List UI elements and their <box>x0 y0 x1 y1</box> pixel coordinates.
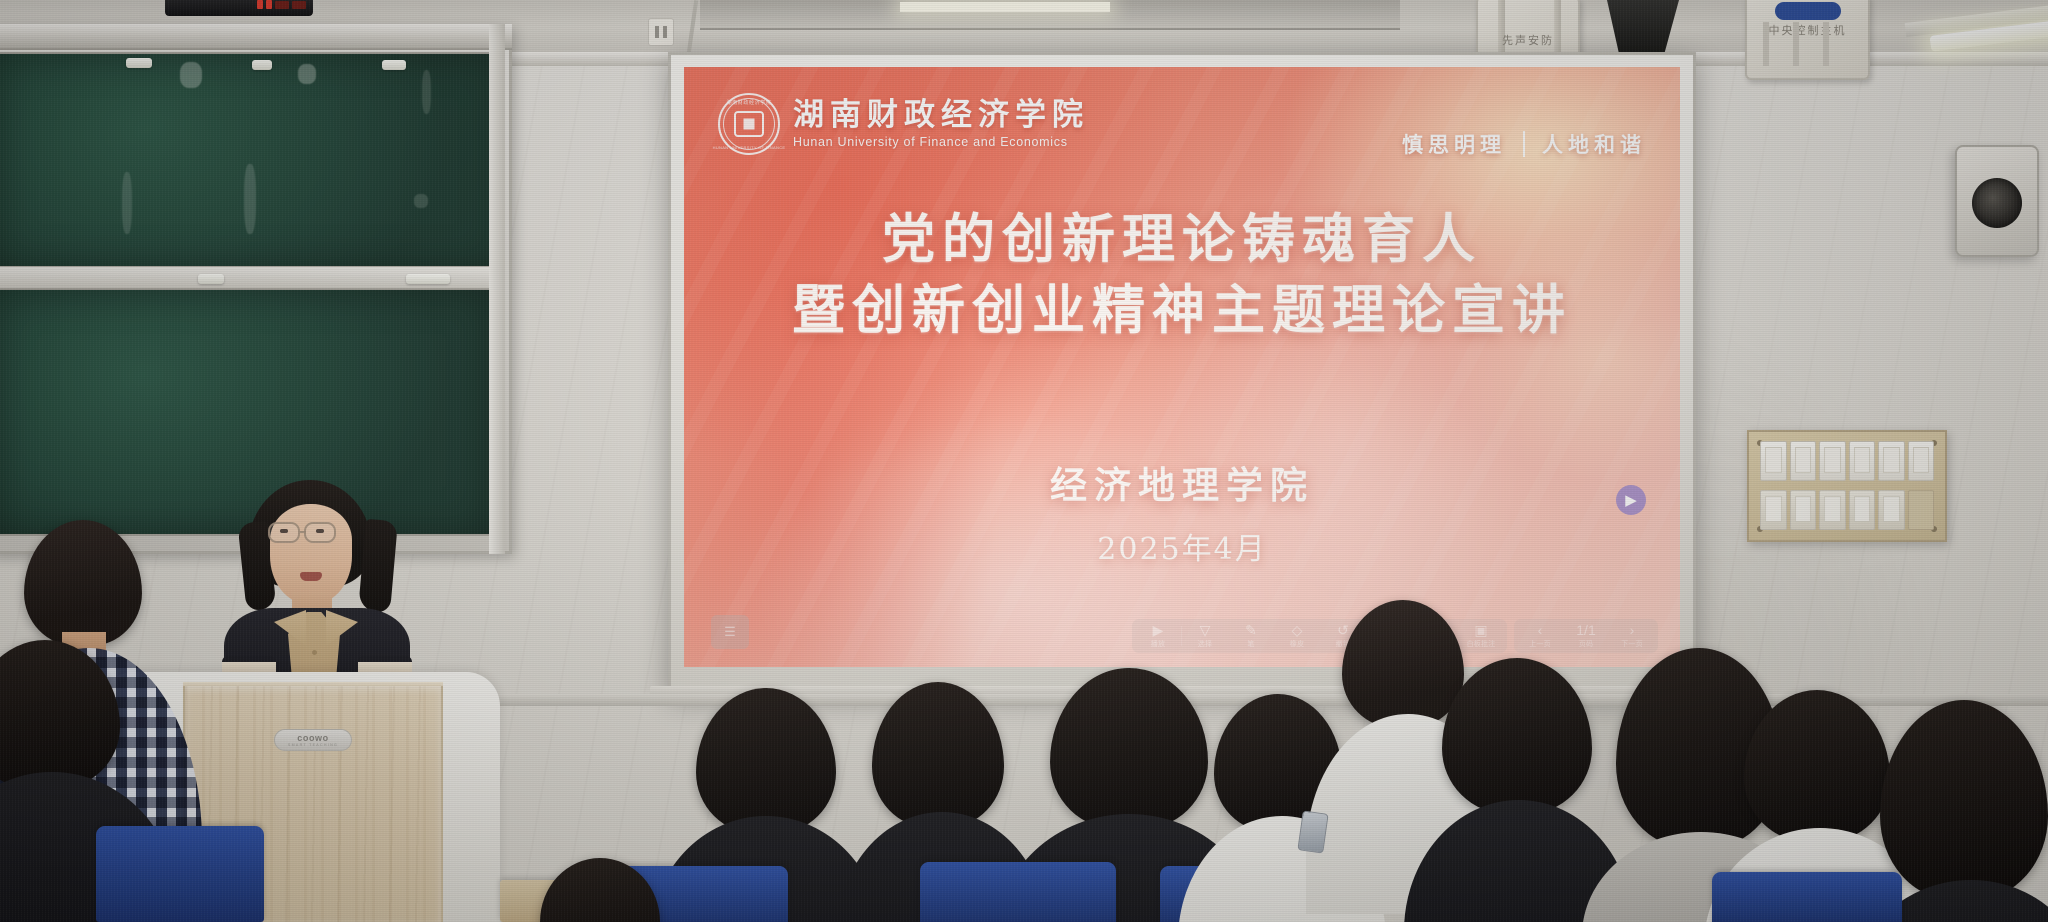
toolbar-expand-button[interactable]: ☰ <box>711 615 749 649</box>
light-switch-panel[interactable] <box>1747 430 1947 542</box>
light-switch[interactable] <box>1819 441 1846 481</box>
slogan-divider <box>1523 131 1525 157</box>
light-switch[interactable] <box>1849 490 1876 530</box>
toolbar-eraser-label: 橡皮 <box>1290 639 1304 649</box>
seal-arc-bottom-text: HUNAN UNIVERSITY OF FINANCE <box>713 145 786 150</box>
switch-row-top[interactable] <box>1760 441 1934 481</box>
slide-title-block: 党的创新理论铸魂育人 暨创新创业精神主题理论宣讲 <box>684 207 1680 342</box>
slide-date: 2025年4月 <box>684 524 1680 568</box>
podium-brand-subtext: SMART TEACHING <box>288 743 338 747</box>
glasses-bridge <box>300 531 306 533</box>
speaker-cone-icon <box>1972 178 2022 228</box>
toolbar-select-label: 选择 <box>1198 639 1212 649</box>
slogan-left: 慎思明理 <box>1402 129 1506 159</box>
wall-loudspeaker <box>1955 145 2039 257</box>
podium-brand-text: coowo <box>297 733 329 743</box>
toolbar-pen-button[interactable]: ✎ 笔 <box>1228 623 1274 649</box>
next-page-icon: › <box>1630 623 1635 637</box>
toolbar-prev-page-button[interactable]: ‹ 上一页 <box>1517 623 1563 649</box>
blackboard-top-rail <box>0 24 512 50</box>
light-switch[interactable] <box>1908 441 1935 481</box>
slide-subtitle-block: 经济地理学院 2025年4月 <box>684 455 1680 568</box>
equipment-vents <box>1763 22 1852 66</box>
toolbar-pen-label: 笔 <box>1247 639 1254 649</box>
switch-row-bottom[interactable] <box>1760 490 1934 530</box>
slide-organizer: 经济地理学院 <box>684 455 1680 509</box>
chair-back <box>96 826 264 922</box>
pen-icon: ✎ <box>1245 623 1257 637</box>
blackboard-panel-upper <box>0 52 504 270</box>
female-presenter <box>222 480 412 700</box>
select-icon: ▽ <box>1200 623 1211 637</box>
chair-back <box>1712 872 1902 922</box>
prev-page-icon: ‹ <box>1538 623 1543 637</box>
toolbar-page-indicator: 1/1 页码 <box>1563 623 1609 649</box>
play-badge-icon: ▶ <box>1616 485 1646 515</box>
page-indicator: 1/1 <box>1576 623 1595 637</box>
toolbar-whiteboard-label: 白板批注 <box>1467 639 1496 649</box>
blackboard-right-frame <box>489 24 505 554</box>
toolbar-next-page-button[interactable]: › 下一页 <box>1609 623 1655 649</box>
slogan-right: 人地和谐 <box>1542 129 1646 159</box>
undo-icon: ↺ <box>1337 623 1349 637</box>
toolbar-play-label: 播放 <box>1151 639 1165 649</box>
toolbar-select-button[interactable]: ▽ 选择 <box>1182 623 1228 649</box>
chair-back <box>920 862 1116 922</box>
university-seal-icon: 湖南财政经济学院 HUNAN UNIVERSITY OF FINANCE <box>718 93 780 155</box>
smartphone[interactable] <box>1297 810 1328 853</box>
shirt-button <box>312 650 317 655</box>
ceiling-light-strip <box>900 2 1110 12</box>
ceiling-equipment-box-right: 中央控制主机 <box>1745 0 1870 80</box>
wall-digital-display <box>165 0 313 16</box>
presentation-slide[interactable]: 湖南财政经济学院 HUNAN UNIVERSITY OF FINANCE 湖南财… <box>684 67 1680 667</box>
toolbar-play-button[interactable]: ▶ 播放 <box>1135 623 1181 649</box>
switch-blank-plate <box>1908 490 1935 530</box>
light-switch[interactable] <box>1760 441 1787 481</box>
presenter-face <box>270 504 352 604</box>
toolbar-next-page-label: 下一页 <box>1621 639 1643 649</box>
light-switch[interactable] <box>1878 441 1905 481</box>
light-switch[interactable] <box>1790 441 1817 481</box>
chalk-piece <box>126 58 152 68</box>
projection-screen[interactable]: 湖南财政经济学院 HUNAN UNIVERSITY OF FINANCE 湖南财… <box>668 52 1696 692</box>
blackboard-chalk-tray-mid <box>0 266 504 290</box>
equipment-badge <box>1775 2 1841 20</box>
equipment-box-left-label: 先声安防 <box>1478 32 1578 48</box>
university-brand-row: 湖南财政经济学院 HUNAN UNIVERSITY OF FINANCE 湖南财… <box>718 93 1089 155</box>
slide-title-line-2: 暨创新创业精神主题理论宣讲 <box>684 278 1680 343</box>
podium-brand-badge: coowo SMART TEACHING <box>274 729 352 751</box>
toolbar-group-navigation[interactable]: ‹ 上一页 1/1 页码 › 下一页 <box>1514 619 1658 653</box>
light-switch[interactable] <box>1849 441 1876 481</box>
glasses-lens-right-icon <box>304 522 336 543</box>
chalk-piece <box>382 60 406 70</box>
light-switch[interactable] <box>1790 490 1817 530</box>
toolbar-page-label: 页码 <box>1579 639 1593 649</box>
toolbar-whiteboard-button[interactable]: ▣ 白板批注 <box>1458 623 1504 649</box>
seal-arc-top-text: 湖南财政经济学院 <box>727 99 772 106</box>
classroom-photo-scene: 先声安防 中央控制主机 <box>0 0 2048 922</box>
light-switch[interactable] <box>1760 490 1787 530</box>
light-switch[interactable] <box>1878 490 1905 530</box>
whiteboard-icon: ▣ <box>1474 623 1487 637</box>
chalk-piece <box>252 60 272 70</box>
presenter-mouth <box>300 572 322 581</box>
glasses-lens-left-icon <box>268 522 300 543</box>
toolbar-prev-page-label: 上一页 <box>1529 639 1551 649</box>
wall-outlet <box>648 18 674 46</box>
university-slogan: 慎思明理 人地和谐 <box>1402 129 1646 159</box>
university-name-cn: 湖南财政经济学院 <box>793 99 1089 132</box>
university-name-en: Hunan University of Finance and Economic… <box>793 136 1089 149</box>
eraser-icon: ◇ <box>1292 623 1303 637</box>
toolbar-eraser-button[interactable]: ◇ 橡皮 <box>1274 623 1320 649</box>
slide-title-line-1: 党的创新理论铸魂育人 <box>684 207 1680 272</box>
play-icon: ▶ <box>1153 623 1164 637</box>
light-switch[interactable] <box>1819 490 1846 530</box>
presenter-hair-right <box>358 519 398 613</box>
